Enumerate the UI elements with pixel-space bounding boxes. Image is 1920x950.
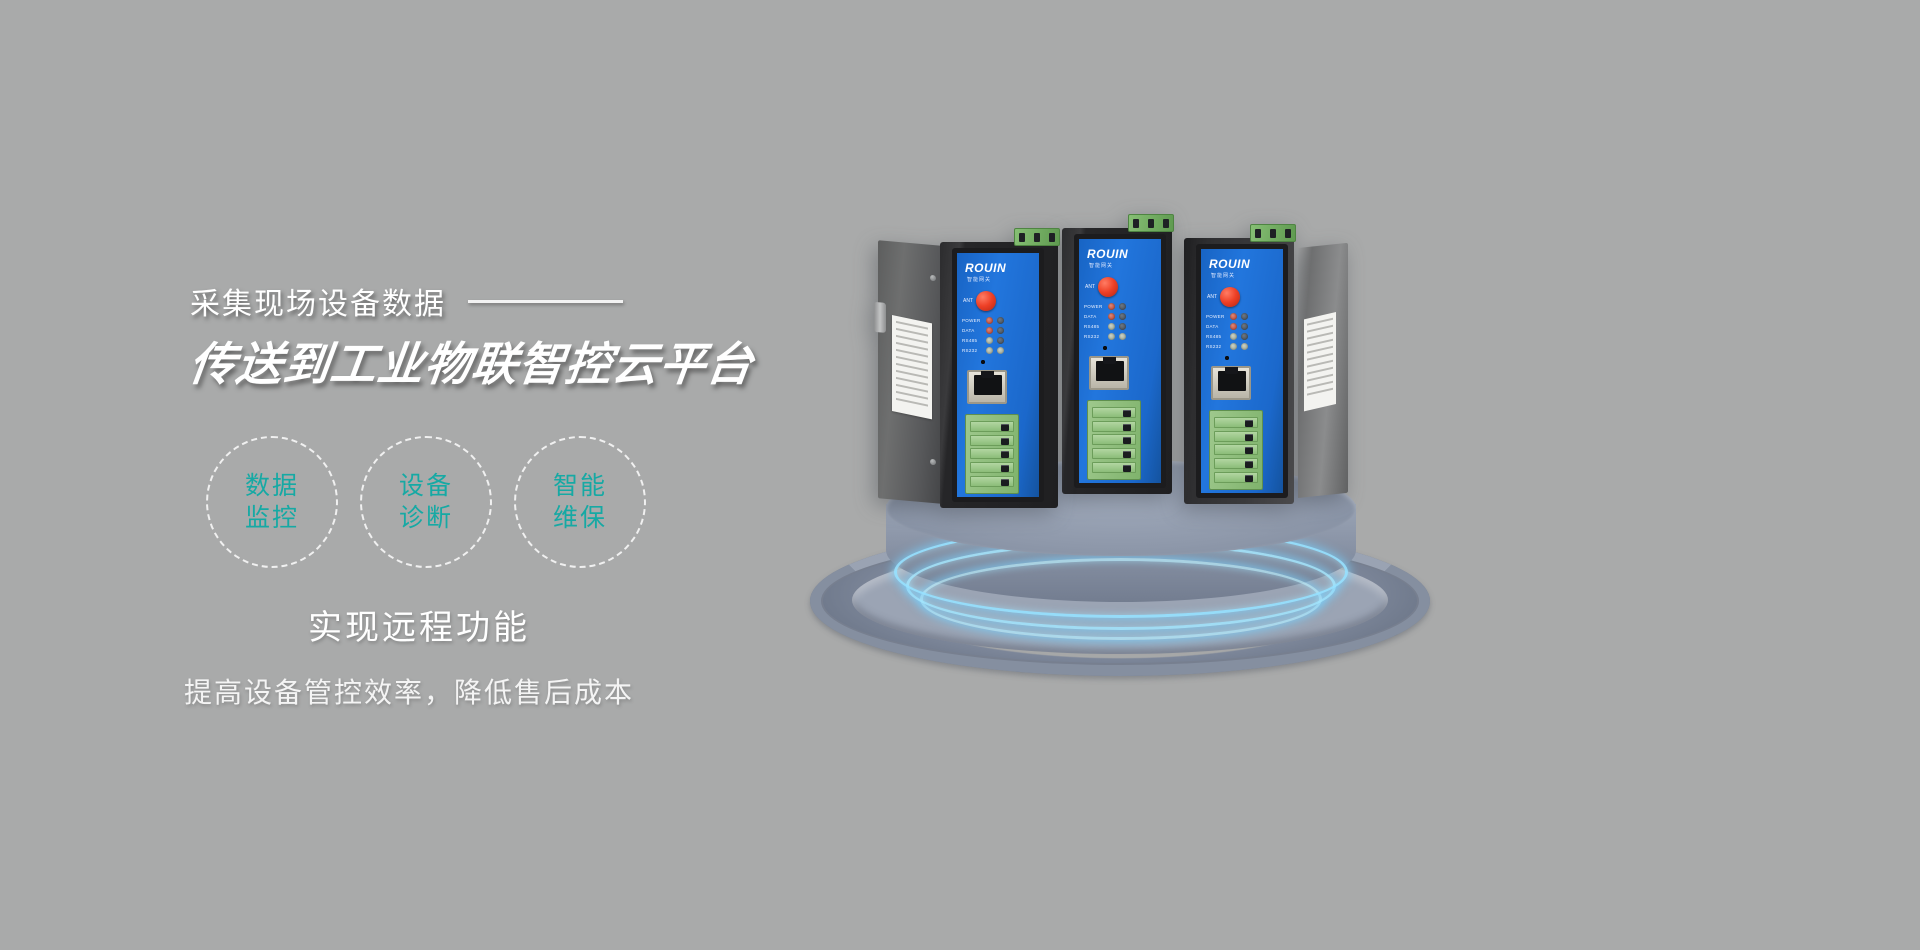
din-rail-clip-icon	[874, 302, 886, 333]
terminal-pin	[970, 421, 1014, 432]
led-label: DATA	[1206, 324, 1226, 329]
feature-circle-line2: 监控	[245, 502, 299, 534]
reset-button[interactable]	[981, 360, 985, 364]
indicator-led-group: POWER DATA RS485 RS232	[1084, 303, 1161, 340]
led-label: RS485	[1206, 334, 1226, 339]
antenna-row: ANT	[1207, 287, 1283, 307]
brand-logo: ROUIN	[965, 262, 1039, 274]
status-led-icon	[1241, 343, 1248, 350]
led-label: RS485	[962, 338, 982, 343]
status-led-icon	[1119, 313, 1126, 320]
terminal-pin	[1214, 417, 1258, 428]
feature-circle-line1: 设备	[399, 470, 453, 502]
sub-description-text: 提高设备管控效率，降低售后成本	[184, 671, 830, 711]
screw-terminal-block	[965, 414, 1019, 494]
status-led-icon	[1119, 303, 1126, 310]
terminal-pin	[1092, 421, 1136, 432]
device-side-panel	[878, 240, 944, 504]
device-body: ROUIN 智能网关 ANT POWER DATA RS485 RS232	[940, 242, 1058, 508]
ethernet-rj45-port	[967, 370, 1007, 404]
brand-logo: ROUIN	[1087, 248, 1161, 260]
screw-terminal-block	[1087, 400, 1141, 480]
status-led-icon	[997, 317, 1004, 324]
indicator-led-group: POWER DATA RS485 RS232	[1206, 313, 1283, 350]
status-led-icon	[997, 337, 1004, 344]
led-row: RS232	[1206, 343, 1283, 350]
headline-text: 传送到工业物联智控云平台	[186, 328, 834, 394]
led-row: RS485	[1084, 323, 1161, 330]
led-label: POWER	[962, 318, 982, 323]
reset-button[interactable]	[1103, 346, 1107, 350]
terminal-pin	[1092, 434, 1136, 445]
antenna-connector-icon	[976, 291, 996, 311]
feature-circle-device-diagnosis[interactable]: 设备 诊断	[360, 436, 492, 568]
terminal-pin	[970, 476, 1014, 487]
gateway-device-center[interactable]: ROUIN 智能网关 ANT POWER DATA RS485 RS232	[1062, 228, 1180, 494]
antenna-connector-icon	[1098, 277, 1118, 297]
antenna-label: ANT	[1085, 284, 1095, 290]
power-terminal-top	[1014, 228, 1060, 246]
status-led-icon	[1108, 313, 1115, 320]
device-spec-label	[1304, 312, 1336, 411]
device-faceplate: ROUIN 智能网关 ANT POWER DATA RS485 RS232	[1196, 244, 1288, 498]
led-row: DATA	[962, 327, 1039, 334]
device-screw-icon	[930, 275, 936, 282]
status-led-icon	[1108, 303, 1115, 310]
led-row: RS232	[962, 347, 1039, 354]
status-led-icon	[986, 337, 993, 344]
device-faceplate: ROUIN 智能网关 ANT POWER DATA RS485 RS232	[952, 248, 1044, 502]
gateway-device-right[interactable]: ROUIN 智能网关 ANT POWER DATA RS485 RS232	[1184, 238, 1302, 504]
led-label: RS232	[1084, 334, 1104, 339]
led-row: RS485	[962, 337, 1039, 344]
sub-headline-text: 实现远程功能	[308, 600, 830, 649]
led-label: POWER	[1084, 304, 1104, 309]
device-side-panel	[1298, 243, 1348, 498]
led-row: POWER	[962, 317, 1039, 324]
status-led-icon	[1230, 333, 1237, 340]
terminal-pin	[1214, 431, 1258, 442]
feature-circle-smart-maintenance[interactable]: 智能 维保	[514, 436, 646, 568]
antenna-row: ANT	[1085, 277, 1161, 297]
led-row: DATA	[1084, 313, 1161, 320]
led-row: DATA	[1206, 323, 1283, 330]
device-faceplate: ROUIN 智能网关 ANT POWER DATA RS485 RS232	[1074, 234, 1166, 488]
status-led-icon	[1241, 333, 1248, 340]
brand-logo: ROUIN	[1209, 258, 1283, 270]
led-row: POWER	[1206, 313, 1283, 320]
feature-circle-line2: 诊断	[399, 502, 453, 534]
ethernet-rj45-port	[1089, 356, 1129, 390]
screw-terminal-block	[1209, 410, 1263, 490]
power-terminal-top	[1128, 214, 1174, 232]
status-led-icon	[1241, 323, 1248, 330]
device-body: ROUIN 智能网关 ANT POWER DATA RS485 RS232	[1062, 228, 1172, 494]
terminal-pin	[1214, 458, 1258, 469]
status-led-icon	[986, 327, 993, 334]
terminal-pin	[1214, 472, 1258, 483]
terminal-pin	[1092, 448, 1136, 459]
device-spec-label	[892, 315, 932, 419]
copy-block: 采集现场设备数据 传送到工业物联智控云平台 数据 监控 设备 诊断 智能 维保 …	[190, 280, 830, 711]
power-terminal-top	[1250, 224, 1296, 242]
status-led-icon	[1108, 323, 1115, 330]
reset-button[interactable]	[1225, 356, 1229, 360]
device-body: ROUIN 智能网关 ANT POWER DATA RS485 RS232	[1184, 238, 1294, 504]
ethernet-rj45-port	[1211, 366, 1251, 400]
status-led-icon	[1119, 323, 1126, 330]
status-led-icon	[1108, 333, 1115, 340]
gateway-device-left[interactable]: ROUIN 智能网关 ANT POWER DATA RS485 RS232	[940, 242, 1058, 508]
feature-circle-line1: 数据	[245, 470, 299, 502]
antenna-row: ANT	[963, 291, 1039, 311]
brand-subtitle: 智能网关	[1211, 272, 1283, 279]
antenna-connector-icon	[1220, 287, 1240, 307]
antenna-label: ANT	[1207, 294, 1217, 300]
terminal-pin	[970, 448, 1014, 459]
led-label: DATA	[962, 328, 982, 333]
feature-circle-data-monitoring[interactable]: 数据 监控	[206, 436, 338, 568]
status-led-icon	[997, 327, 1004, 334]
status-led-icon	[986, 317, 993, 324]
led-row: RS485	[1206, 333, 1283, 340]
antenna-label: ANT	[963, 298, 973, 304]
led-row: POWER	[1084, 303, 1161, 310]
terminal-pin	[1092, 407, 1136, 418]
status-led-icon	[1241, 313, 1248, 320]
eyebrow-rule-divider	[468, 300, 623, 303]
feature-circle-line2: 维保	[553, 502, 607, 534]
feature-circle-row: 数据 监控 设备 诊断 智能 维保	[206, 436, 830, 568]
led-label: RS485	[1084, 324, 1104, 329]
eyebrow-text: 采集现场设备数据	[190, 279, 446, 323]
status-led-icon	[1230, 313, 1237, 320]
status-led-icon	[1230, 323, 1237, 330]
feature-circle-line1: 智能	[553, 470, 607, 502]
terminal-pin	[970, 462, 1014, 473]
promo-banner: 采集现场设备数据 传送到工业物联智控云平台 数据 监控 设备 诊断 智能 维保 …	[0, 0, 1920, 950]
led-label: POWER	[1206, 314, 1226, 319]
terminal-pin	[1214, 444, 1258, 455]
indicator-led-group: POWER DATA RS485 RS232	[962, 317, 1039, 354]
terminal-pin	[1092, 462, 1136, 473]
terminal-pin	[970, 435, 1014, 446]
eyebrow-row: 采集现场设备数据	[190, 280, 830, 322]
brand-subtitle: 智能网关	[967, 276, 1039, 283]
status-led-icon	[1119, 333, 1126, 340]
led-label: RS232	[962, 348, 982, 353]
product-scene: ROUIN 智能网关 ANT POWER DATA RS485 RS232	[790, 190, 1510, 670]
led-label: RS232	[1206, 344, 1226, 349]
status-led-icon	[997, 347, 1004, 354]
status-led-icon	[1230, 343, 1237, 350]
brand-subtitle: 智能网关	[1089, 262, 1161, 269]
led-label: DATA	[1084, 314, 1104, 319]
device-screw-icon	[930, 459, 936, 466]
led-row: RS232	[1084, 333, 1161, 340]
status-led-icon	[986, 347, 993, 354]
